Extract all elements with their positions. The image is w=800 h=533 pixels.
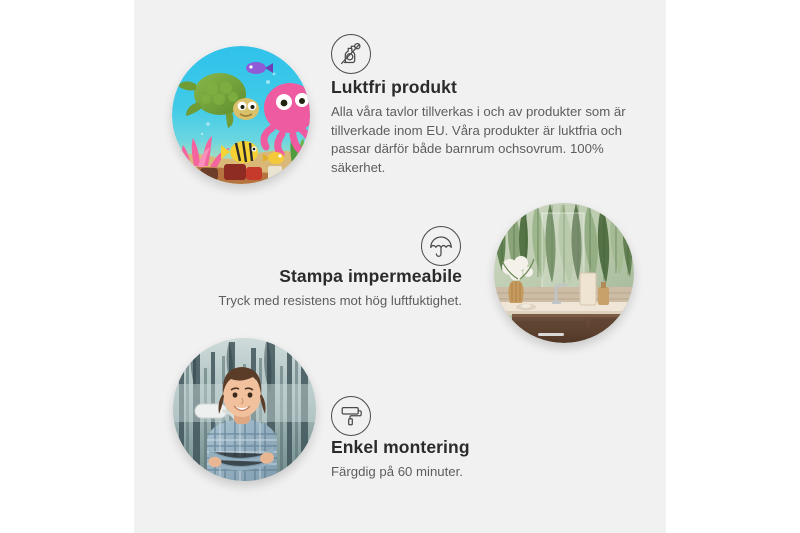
feature-body-odor-free: Alla våra tavlor tillverkas i och av pro… [331, 103, 631, 178]
feature-body-waterproof: Tryck med resistens mot hög luftfuktighe… [160, 292, 462, 311]
umbrella-icon-wrapper [421, 226, 461, 266]
feature-title-waterproof: Stampa impermeabile [160, 266, 462, 287]
bathroom-illustration [494, 203, 634, 343]
decorator-forest-photo [173, 338, 316, 481]
feature-block-odor-free: Luktfri produkt Alla våra tavlor tillver… [331, 77, 631, 178]
feature-title-odor-free: Luktfri produkt [331, 77, 631, 98]
bathroom-vanity-photo [494, 203, 634, 343]
feature-body-easy-mounting: Färgdig på 60 minuter. [331, 463, 631, 482]
feature-block-waterproof: Stampa impermeabile Tryck med resistens … [160, 266, 462, 311]
no-spray-bottle-icon-wrapper [331, 34, 371, 74]
feature-block-easy-mounting: Enkel montering Färgdig på 60 minuter. [331, 437, 631, 482]
underwater-scene-photo [172, 46, 310, 184]
decorator-illustration [173, 338, 316, 481]
paint-roller-icon-wrapper [331, 396, 371, 436]
feature-title-easy-mounting: Enkel montering [331, 437, 631, 458]
paint-roller-icon [331, 396, 371, 436]
underwater-illustration [172, 46, 310, 184]
infographic-canvas: Luktfri produkt Alla våra tavlor tillver… [0, 0, 800, 533]
no-spray-bottle-icon [331, 34, 371, 74]
umbrella-icon [421, 226, 461, 266]
